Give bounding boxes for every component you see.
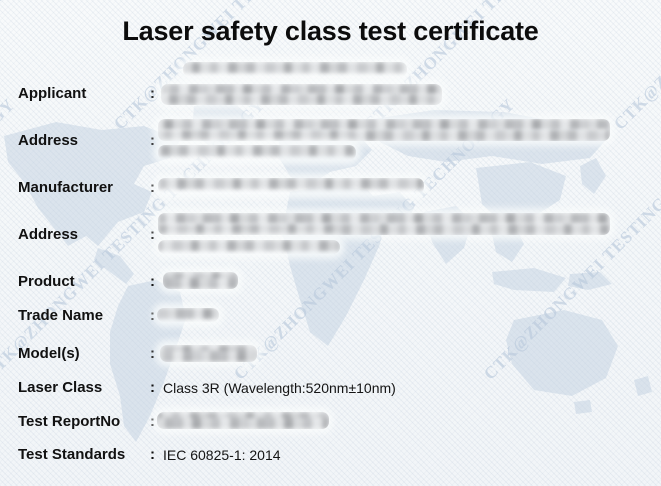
- redacted-field-value: [160, 345, 257, 362]
- mosaic-strip: [158, 240, 340, 251]
- mosaic-strip: [157, 308, 219, 319]
- mosaic-strip: [158, 178, 424, 189]
- mosaic-strip: [157, 418, 329, 429]
- mosaic-strip: [158, 119, 610, 130]
- redacted-field-value: [158, 178, 424, 194]
- field-separator: :: [150, 413, 155, 430]
- redacted-field-value: [158, 145, 356, 160]
- field-label: Test Standards: [18, 446, 125, 463]
- mosaic-strip: [163, 278, 238, 289]
- field-label: Product: [18, 273, 75, 290]
- redacted-field-value: [158, 119, 610, 141]
- field-label: Applicant: [18, 85, 86, 102]
- field-label: Address: [18, 132, 78, 149]
- redacted-field-value: [161, 84, 442, 105]
- mosaic-strip: [158, 224, 610, 235]
- laser-safety-certificate: CTK@ZHONGWEI TESTING TECHNOLOGY CTK@ZHON…: [0, 0, 661, 486]
- field-separator: :: [150, 273, 155, 290]
- field-separator: :: [150, 345, 155, 362]
- field-separator: :: [150, 85, 155, 102]
- field-separator: :: [150, 179, 155, 196]
- redacted-field-value: [183, 62, 407, 77]
- field-label: Laser Class: [18, 379, 102, 396]
- field-label: Address: [18, 226, 78, 243]
- mosaic-strip: [183, 62, 407, 73]
- field-label: Trade Name: [18, 307, 103, 324]
- mosaic-strip: [161, 94, 442, 105]
- field-label: Manufacturer: [18, 179, 113, 196]
- field-label: Test ReportNo: [18, 413, 120, 430]
- field-value: Class 3R (Wavelength:520nm±10nm): [163, 380, 396, 396]
- mosaic-strip: [158, 213, 610, 224]
- field-separator: :: [150, 379, 155, 396]
- mosaic-strip: [160, 351, 257, 362]
- field-separator: :: [150, 132, 155, 149]
- mosaic-strip: [158, 130, 610, 141]
- mosaic-strip: [158, 145, 356, 156]
- redacted-field-value: [163, 272, 238, 289]
- redacted-field-value: [158, 213, 610, 235]
- redacted-field-value: [157, 308, 219, 322]
- field-separator: :: [150, 446, 155, 463]
- field-separator: :: [150, 226, 155, 243]
- field-label: Model(s): [18, 345, 80, 362]
- field-value: IEC 60825-1: 2014: [163, 447, 281, 463]
- redacted-field-value: [158, 240, 340, 254]
- redacted-field-value: [157, 412, 329, 429]
- field-separator: :: [150, 307, 155, 324]
